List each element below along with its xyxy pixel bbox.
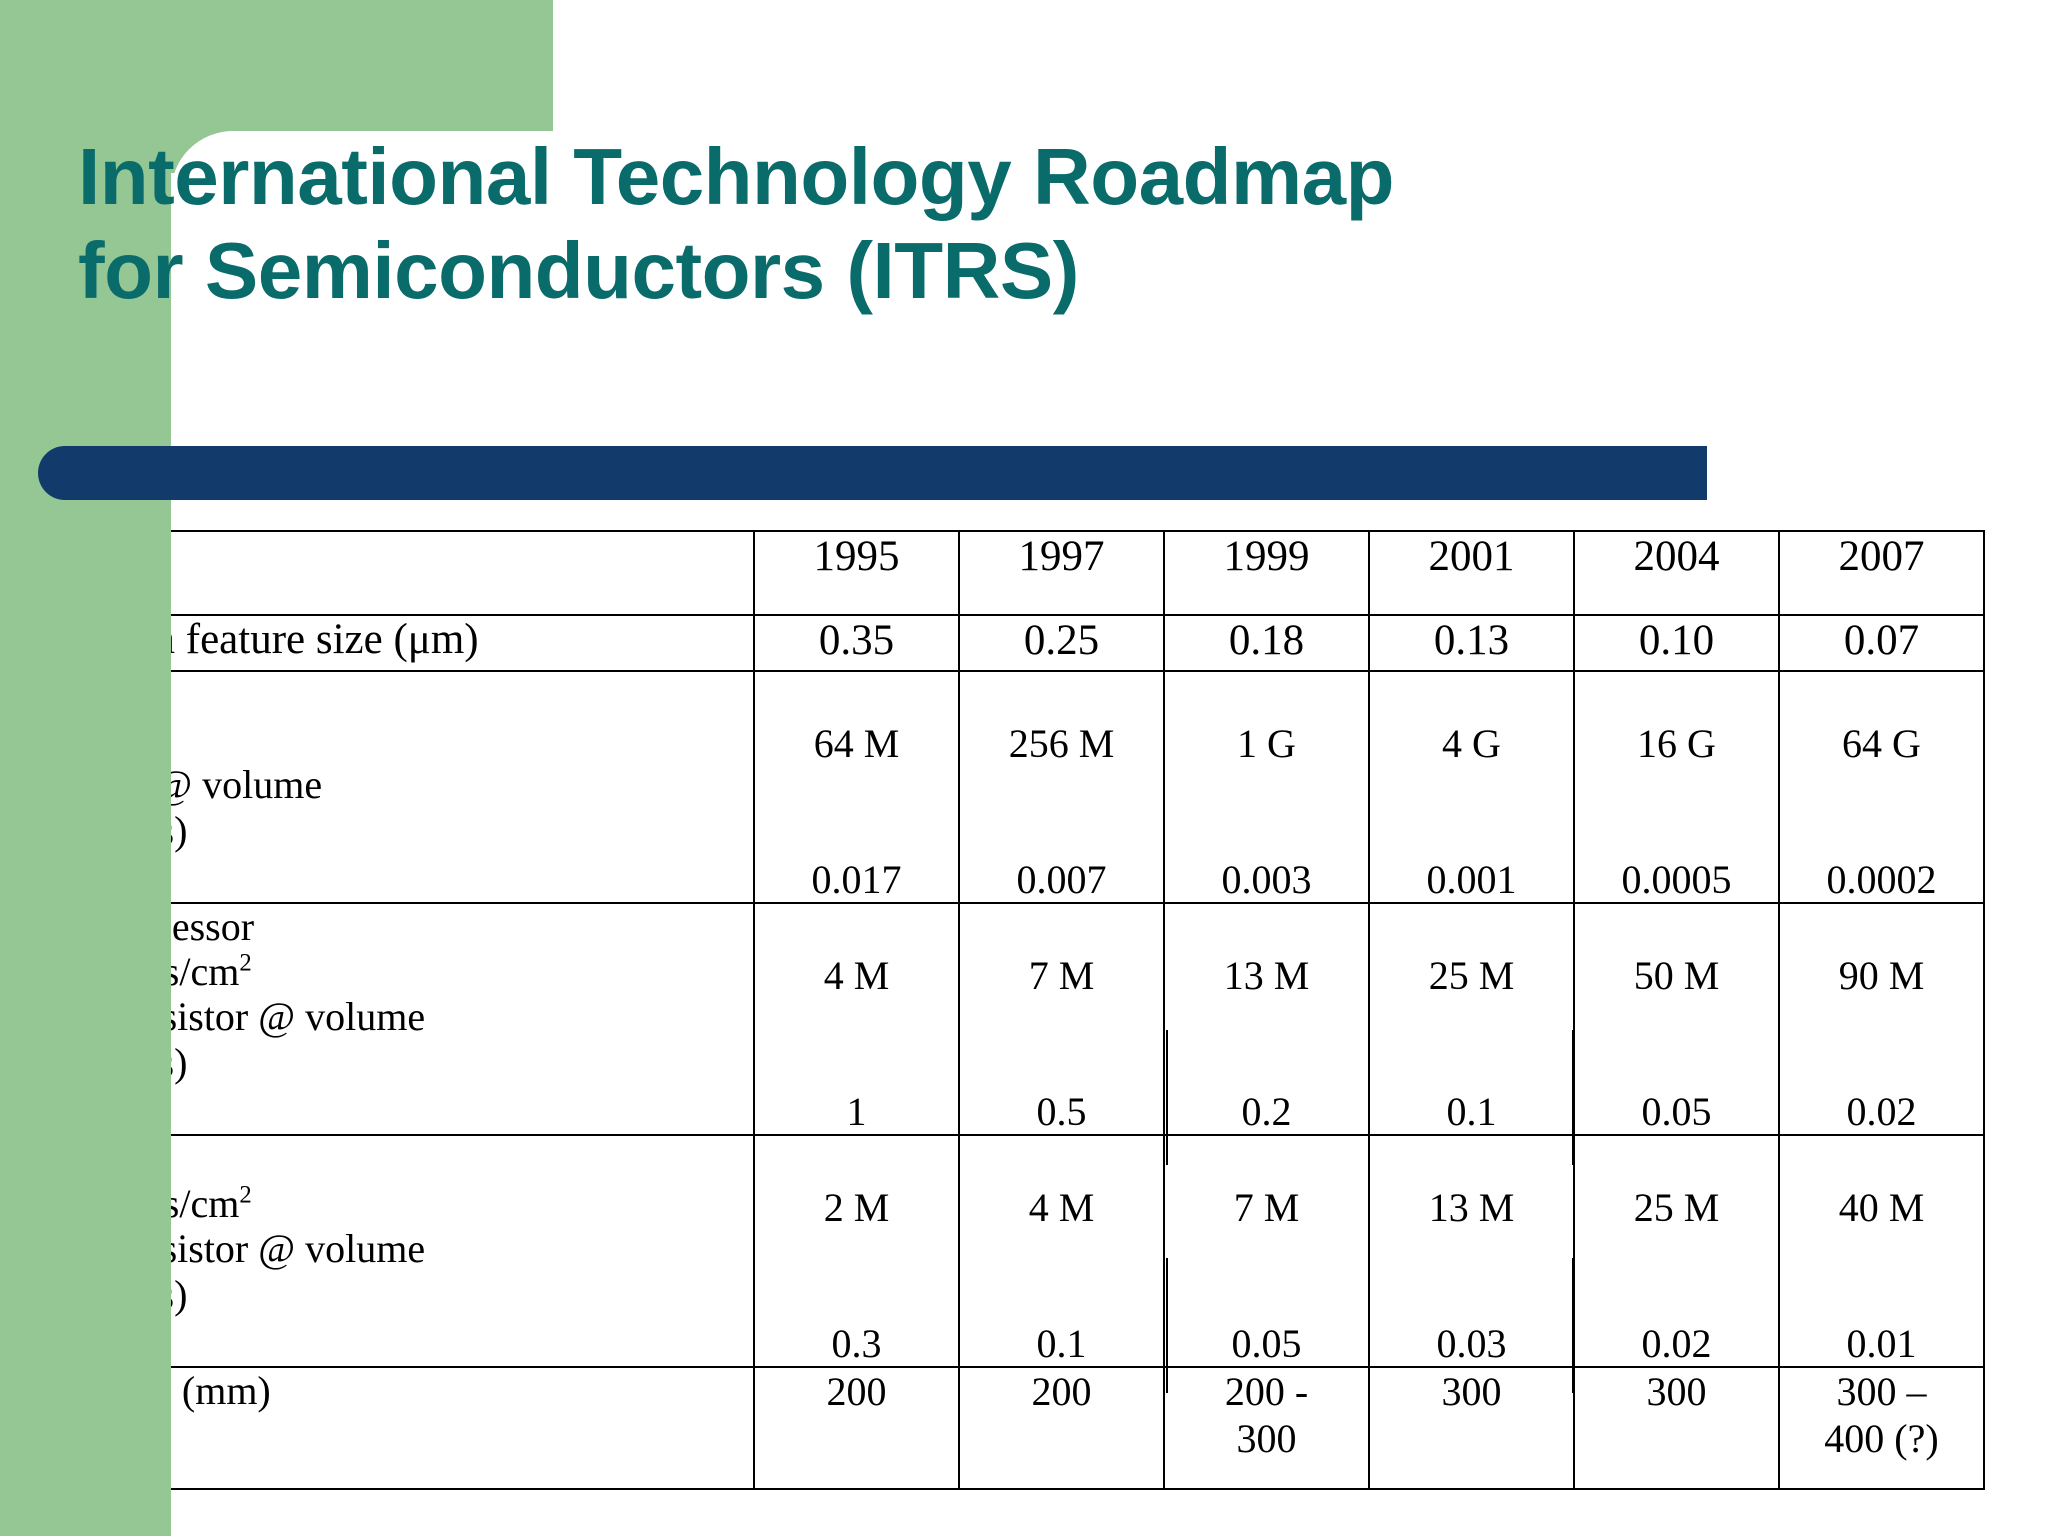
scan-artifact-line <box>1572 1030 1574 1165</box>
value-line: 200 <box>960 1368 1163 1415</box>
table-row: DRAMBits/chipCost/bits @ volume(millicen… <box>2 671 1984 903</box>
value-stack: 1 G0.003 <box>1165 672 1368 902</box>
cell-1995: 0.35 <box>754 615 959 671</box>
value-top: 90 M <box>1780 956 1983 996</box>
value-stack: 25 M0.1 <box>1370 904 1573 1134</box>
cell-2004: 25 M0.02 <box>1574 1135 1779 1367</box>
navy-divider-bar <box>38 446 1707 500</box>
cell-2007: 40 M0.01 <box>1779 1135 1984 1367</box>
value-line: 300 <box>1165 1415 1368 1462</box>
value-bottom: 0.3 <box>755 1324 958 1364</box>
value-bottom: 0.2 <box>1165 1092 1368 1132</box>
value-bottom: 0.01 <box>1780 1324 1983 1364</box>
cell-2004: 16 G0.0005 <box>1574 671 1779 903</box>
title-line-1: International Technology Roadmap <box>78 130 1778 224</box>
value-stack: 4 M0.1 <box>960 1136 1163 1366</box>
value-bottom: 1 <box>755 1092 958 1132</box>
cell-1999: 1 G0.003 <box>1164 671 1369 903</box>
value-bottom: 0.1 <box>1370 1092 1573 1132</box>
value-line: 300 <box>1575 1368 1778 1415</box>
value-bottom: 0.0005 <box>1575 860 1778 900</box>
value-stack: 40 M0.01 <box>1780 1136 1983 1366</box>
cell-2001: 25 M0.1 <box>1369 903 1574 1135</box>
value-stack: 2 M0.3 <box>755 1136 958 1366</box>
value-stack: 16 G0.0005 <box>1575 672 1778 902</box>
value-top: 40 M <box>1780 1188 1983 1228</box>
cell-1995: 2 M0.3 <box>754 1135 959 1367</box>
cell-1995: 64 M0.017 <box>754 671 959 903</box>
cell-2004: 0.10 <box>1574 615 1779 671</box>
cell-2001: 4 G0.001 <box>1369 671 1574 903</box>
cell-1997: 4 M0.1 <box>959 1135 1164 1367</box>
value-stack: 13 M0.03 <box>1370 1136 1573 1366</box>
value-top: 2 M <box>755 1188 958 1228</box>
table-row: MicroprocessorTransistors/cm2Cost/Transi… <box>2 903 1984 1135</box>
value-stack: 90 M0.02 <box>1780 904 1983 1134</box>
cell-1997: 256 M0.007 <box>959 671 1164 903</box>
value-stack: 64 M0.017 <box>755 672 958 902</box>
column-header-year-1999: 1999 <box>1164 531 1369 615</box>
value-bottom: 0.007 <box>960 860 1163 900</box>
value-stack: 4 G0.001 <box>1370 672 1573 902</box>
value-top: 25 M <box>1575 1188 1778 1228</box>
scan-artifact-line <box>1572 1258 1574 1393</box>
cell-1997: 200 <box>959 1367 1164 1489</box>
value-bottom: 0.017 <box>755 860 958 900</box>
value-line: 300 – <box>1780 1368 1983 1415</box>
column-header-year-2007: 2007 <box>1779 531 1984 615</box>
cell-1999: 13 M0.2 <box>1164 903 1369 1135</box>
cell-2007: 90 M0.02 <box>1779 903 1984 1135</box>
value-top: 64 M <box>755 724 958 764</box>
value-bottom: 0.003 <box>1165 860 1368 900</box>
cell-2007: 64 G0.0002 <box>1779 671 1984 903</box>
table-row: ASICTransistors/cm2Cost/Transistor @ vol… <box>2 1135 1984 1367</box>
cell-2007: 300 –400 (?) <box>1779 1367 1984 1489</box>
itrs-roadmap-table: 199519971999200120042007Minimum feature … <box>1 530 1985 1490</box>
value-stack: 64 G0.0002 <box>1780 672 1983 902</box>
value-bottom: 0.05 <box>1575 1092 1778 1132</box>
cell-1999: 7 M0.05 <box>1164 1135 1369 1367</box>
value-line: 200 - <box>1165 1368 1368 1415</box>
value-top: 64 G <box>1780 724 1983 764</box>
value-stack: 256 M0.007 <box>960 672 1163 902</box>
column-header-year-1997: 1997 <box>959 531 1164 615</box>
value-top: 4 M <box>960 1188 1163 1228</box>
cell-2001: 13 M0.03 <box>1369 1135 1574 1367</box>
column-header-year-2004: 2004 <box>1574 531 1779 615</box>
cell-1995: 4 M1 <box>754 903 959 1135</box>
value-line: 300 <box>1370 1368 1573 1415</box>
table-row: Wafer size (mm)200200200 -300300300300 –… <box>2 1367 1984 1489</box>
value-bottom: 0.02 <box>1780 1092 1983 1132</box>
table-row: Minimum feature size (μm)0.350.250.180.1… <box>2 615 1984 671</box>
value-top: 13 M <box>1165 956 1368 996</box>
value-stack: 4 M1 <box>755 904 958 1134</box>
value-bottom: 0.03 <box>1370 1324 1573 1364</box>
title-line-2: for Semiconductors (ITRS) <box>78 224 1778 318</box>
superscript-two: 2 <box>239 950 251 977</box>
value-stack: 50 M0.05 <box>1575 904 1778 1134</box>
value-top: 7 M <box>960 956 1163 996</box>
scan-artifact-line <box>1166 1258 1168 1393</box>
superscript-two: 2 <box>239 1182 251 1209</box>
value-top: 25 M <box>1370 956 1573 996</box>
value-top: 13 M <box>1370 1188 1573 1228</box>
value-bottom: 0.0002 <box>1780 860 1983 900</box>
value-bottom: 0.1 <box>960 1324 1163 1364</box>
cell-2004: 300 <box>1574 1367 1779 1489</box>
value-stack: 13 M0.2 <box>1165 904 1368 1134</box>
cell-1995: 200 <box>754 1367 959 1489</box>
value-line: 200 <box>755 1368 958 1415</box>
page-title: International Technology Roadmap for Sem… <box>78 130 1778 317</box>
column-header-year-2001: 2001 <box>1369 531 1574 615</box>
value-stack: 25 M0.02 <box>1575 1136 1778 1366</box>
table-header-row: 199519971999200120042007 <box>2 531 1984 615</box>
value-stack: 7 M0.5 <box>960 904 1163 1134</box>
cell-2001: 300 <box>1369 1367 1574 1489</box>
cell-1997: 7 M0.5 <box>959 903 1164 1135</box>
cell-2004: 50 M0.05 <box>1574 903 1779 1135</box>
cell-2007: 0.07 <box>1779 615 1984 671</box>
value-line: 400 (?) <box>1780 1415 1983 1462</box>
value-top: 4 M <box>755 956 958 996</box>
cell-1999: 0.18 <box>1164 615 1369 671</box>
value-top: 50 M <box>1575 956 1778 996</box>
value-bottom: 0.05 <box>1165 1324 1368 1364</box>
value-top: 16 G <box>1575 724 1778 764</box>
cell-1997: 0.25 <box>959 615 1164 671</box>
value-top: 4 G <box>1370 724 1573 764</box>
value-bottom: 0.5 <box>960 1092 1163 1132</box>
cell-2001: 0.13 <box>1369 615 1574 671</box>
value-stack: 7 M0.05 <box>1165 1136 1368 1366</box>
value-bottom: 0.02 <box>1575 1324 1778 1364</box>
cell-1999: 200 -300 <box>1164 1367 1369 1489</box>
scan-artifact-line <box>1166 1030 1168 1165</box>
value-top: 7 M <box>1165 1188 1368 1228</box>
value-bottom: 0.001 <box>1370 860 1573 900</box>
column-header-year-1995: 1995 <box>754 531 959 615</box>
value-top: 1 G <box>1165 724 1368 764</box>
value-top: 256 M <box>960 724 1163 764</box>
